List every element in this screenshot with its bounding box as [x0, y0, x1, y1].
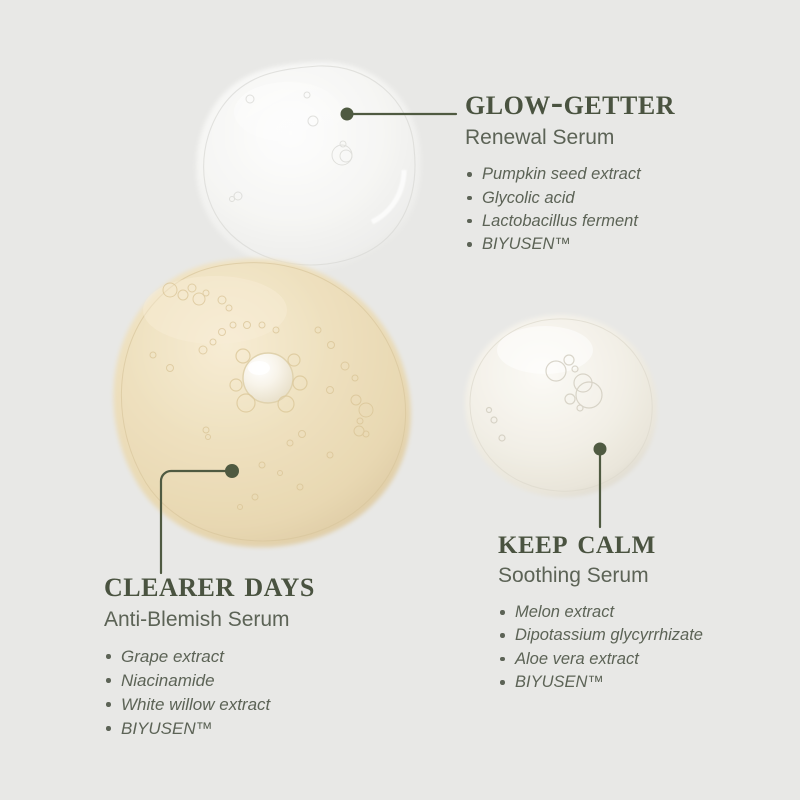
leader-dot-glow-getter	[341, 108, 354, 121]
ingredient-item: White willow extract	[104, 693, 315, 717]
ingredient-item: Niacinamide	[104, 669, 315, 693]
product-title-keep-calm: Keep Calm	[498, 524, 703, 561]
ingredient-item: BIYUSEN™	[465, 233, 675, 256]
leader-line-glow-getter	[341, 108, 457, 121]
product-title-clearer-days: Clearer Days	[104, 566, 315, 605]
callout-clearer-days: Clearer Days Anti-Blemish Serum Grape ex…	[104, 566, 315, 742]
product-title-glow-getter: Glow-Getter	[465, 84, 675, 123]
leader-line-clearer-days	[161, 464, 239, 573]
product-subtitle-glow-getter: Renewal Serum	[465, 125, 675, 151]
ingredient-item: Grape extract	[104, 645, 315, 669]
ingredient-item: Dipotassium glycyrrhizate	[498, 624, 703, 647]
ingredient-item: Glycolic acid	[465, 187, 675, 210]
callout-keep-calm: Keep Calm Soothing Serum Melon extract D…	[498, 524, 703, 695]
ingredient-list-keep-calm: Melon extract Dipotassium glycyrrhizate …	[498, 601, 703, 695]
product-subtitle-keep-calm: Soothing Serum	[498, 563, 703, 589]
infographic-canvas: Glow-Getter Renewal Serum Pumpkin seed e…	[0, 0, 800, 800]
ingredient-item: BIYUSEN™	[104, 717, 315, 741]
ingredient-item: BIYUSEN™	[498, 671, 703, 694]
ingredient-item: Pumpkin seed extract	[465, 163, 675, 186]
ingredient-list-glow-getter: Pumpkin seed extract Glycolic acid Lacto…	[465, 163, 675, 257]
product-subtitle-clearer-days: Anti-Blemish Serum	[104, 607, 315, 633]
ingredient-list-clearer-days: Grape extract Niacinamide White willow e…	[104, 645, 315, 742]
callout-glow-getter: Glow-Getter Renewal Serum Pumpkin seed e…	[465, 84, 675, 257]
ingredient-item: Lactobacillus ferment	[465, 210, 675, 233]
ingredient-item: Aloe vera extract	[498, 648, 703, 671]
leader-dot-keep-calm	[594, 443, 607, 456]
leader-line-keep-calm	[594, 443, 607, 528]
leader-dot-clearer-days	[225, 464, 239, 478]
ingredient-item: Melon extract	[498, 601, 703, 624]
